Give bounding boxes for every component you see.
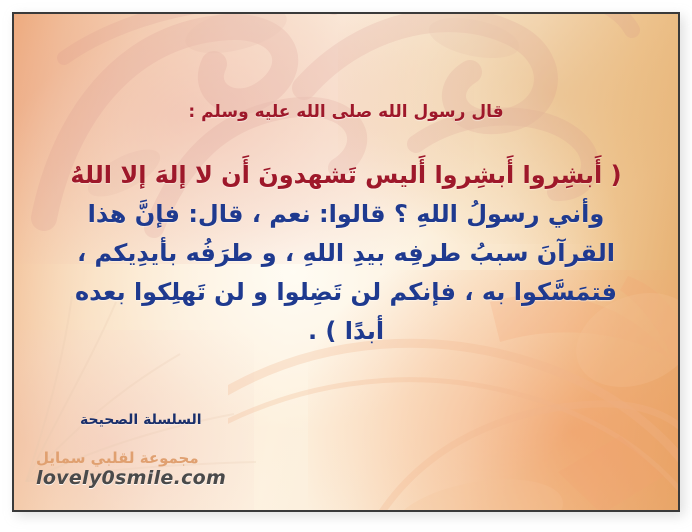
watermark-arabic-text: مجموعة لقلبي سمايل (36, 451, 226, 466)
hadith-line-2: وأني رسولُ اللهِ ؟ قالوا: نعم ، قال: فإن… (36, 195, 656, 234)
hadith-line-1: ( أَبشِروا أَبشِروا أَليس تَشهدونَ أَن ل… (36, 156, 656, 195)
page-root: قال رسول الله صلى الله عليه وسلم : ( أَب… (0, 0, 692, 532)
card-content: قال رسول الله صلى الله عليه وسلم : ( أَب… (14, 14, 678, 510)
hadith-line-4: فتمَسَّكوا به ، فإنكم لن تَضِلوا و لن تَ… (36, 273, 656, 312)
hadith-source-reference: السلسلة الصحيحة (80, 412, 202, 428)
hadith-line-5: أبدًا ) . (36, 312, 656, 351)
hadith-intro-text: قال رسول الله صلى الله عليه وسلم : (36, 102, 656, 123)
watermark-block: مجموعة لقلبي سمايل lovely0smile.com (36, 451, 226, 488)
hadith-card: قال رسول الله صلى الله عليه وسلم : ( أَب… (12, 12, 680, 512)
hadith-body: ( أَبشِروا أَبشِروا أَليس تَشهدونَ أَن ل… (36, 156, 656, 351)
hadith-line-3: القرآنَ سببُ طرفِه بيدِ اللهِ ، و طرَفُه… (36, 234, 656, 273)
watermark-site-url: lovely0smile.com (36, 469, 226, 488)
